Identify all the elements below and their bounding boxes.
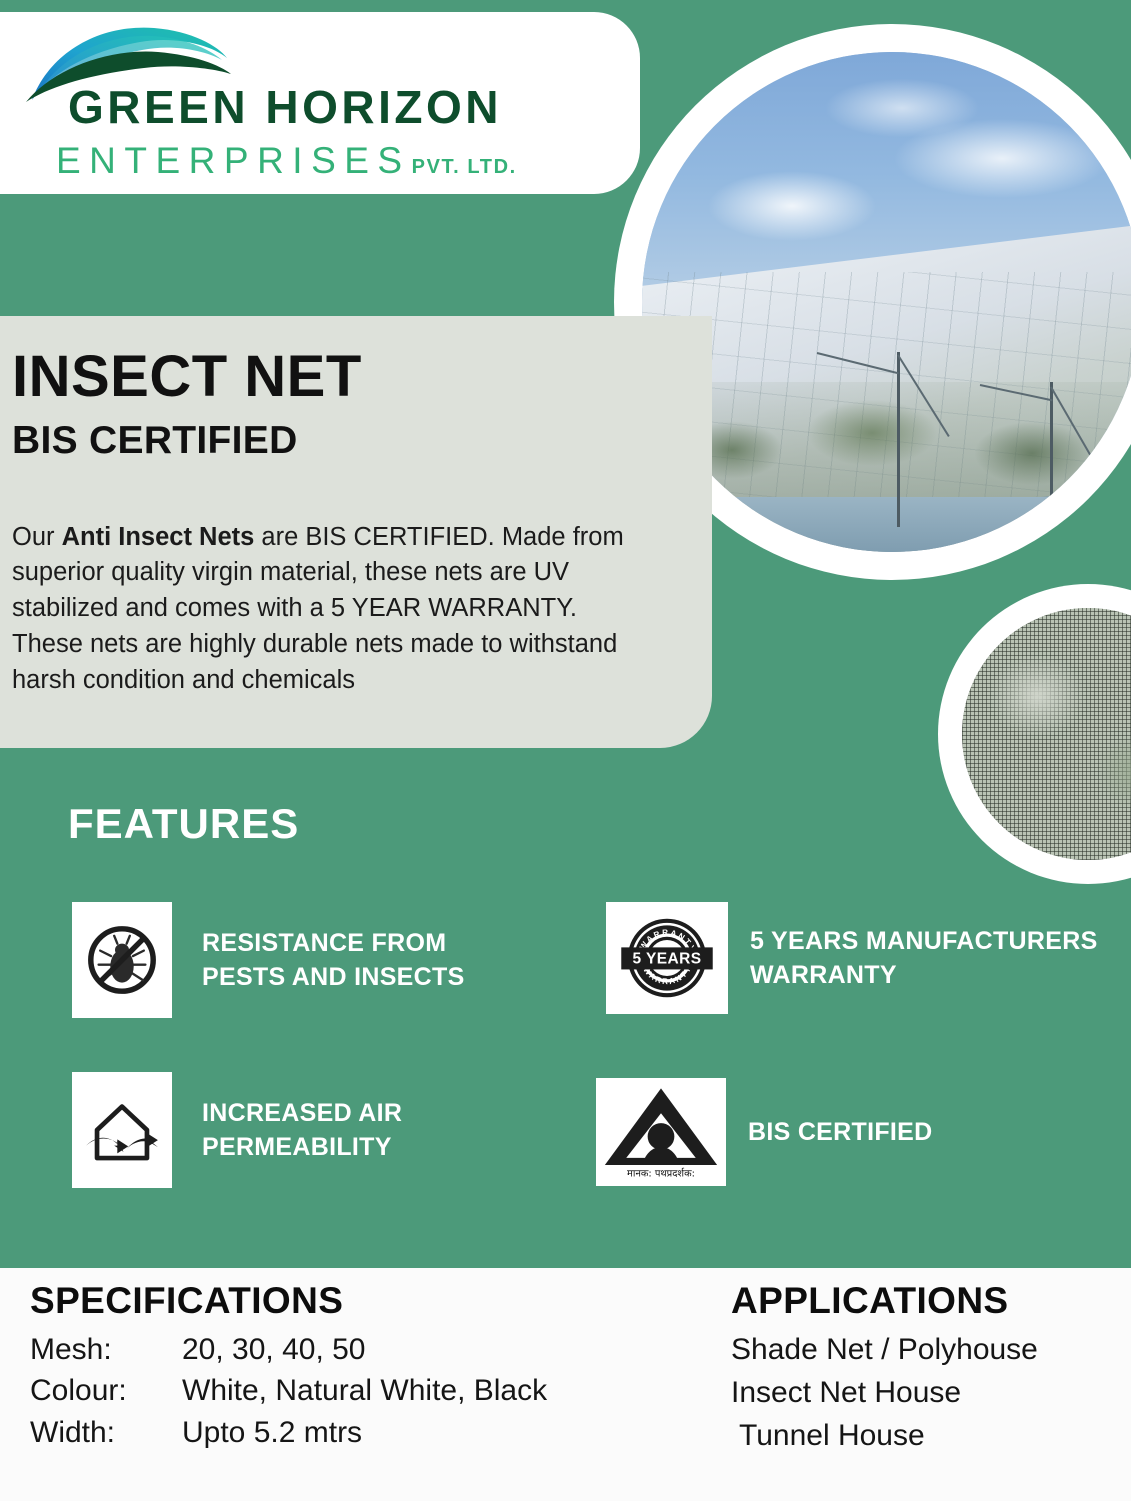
spec-value: Upto 5.2 mtrs [182,1412,362,1453]
spec-row: Colour: White, Natural White, Black [30,1370,547,1411]
logo-card: GREEN HORIZON ENTERPRISES PVT. LTD. [0,12,640,194]
feature-label-line2: PESTS AND INSECTS [202,960,465,994]
logo-enterprises-text: ENTERPRISES [56,142,411,179]
svg-text:मानक: पथप्रदर्शक:: मानक: पथप्रदर्शक: [627,1168,695,1180]
desc-bold: Anti Insect Nets [62,523,255,551]
title-panel: INSECT NET BIS CERTIFIED Our Anti Insect… [0,316,712,748]
feature-item-warranty: WARRANTY WARRANTY 5 YEARS 5 YEARS MANUFA… [606,902,1098,1014]
spec-key: Mesh: [30,1329,182,1370]
feature-item-bis-certified: मानक: पथप्रदर्शक: BIS CERTIFIED [596,1078,932,1186]
spec-key: Width: [30,1412,182,1453]
feature-label: INCREASED AIR PERMEABILITY [202,1096,402,1164]
water-region [642,497,1131,552]
logo-company-name: GREEN HORIZON [68,84,502,130]
support-pole [897,352,900,527]
features-heading: FEATURES [68,800,299,848]
application-item: Insect Net House [731,1372,1038,1415]
support-pole [1050,382,1053,532]
applications-heading: APPLICATIONS [731,1282,1038,1319]
page-subtitle: BIS CERTIFIED [12,421,298,460]
spec-row: Width: Upto 5.2 mtrs [30,1412,547,1453]
no-insect-icon [72,902,172,1018]
feature-label-line1: 5 YEARS MANUFACTURERS [750,924,1098,958]
feature-label-line2: WARRANTY [750,958,1098,992]
application-item: Shade Net / Polyhouse [731,1329,1038,1372]
bis-certification-icon: मानक: पथप्रदर्शक: [596,1078,726,1186]
feature-label-line1: BIS CERTIFIED [748,1115,932,1149]
product-flyer: GREEN HORIZON ENTERPRISES PVT. LTD. INSE… [0,0,1131,1501]
logo-subtitle: ENTERPRISES PVT. LTD. [56,142,517,179]
desc-pre: Our [12,523,62,551]
feature-item-air-permeability: INCREASED AIR PERMEABILITY [72,1072,402,1188]
warranty-seal-icon: WARRANTY WARRANTY 5 YEARS [606,902,728,1014]
product-description: Our Anti Insect Nets are BIS CERTIFIED. … [12,520,648,700]
air-permeability-house-icon [72,1072,172,1188]
spec-value: White, Natural White, Black [182,1370,547,1411]
spec-row: Mesh: 20, 30, 40, 50 [30,1329,547,1370]
feature-label: 5 YEARS MANUFACTURERS WARRANTY [750,924,1098,992]
mesh-texture [962,608,1131,860]
net-mesh-closeup-photo [962,608,1131,860]
specifications-column: SPECIFICATIONS Mesh: 20, 30, 40, 50 Colo… [30,1282,547,1453]
specifications-heading: SPECIFICATIONS [30,1282,547,1319]
spec-key: Colour: [30,1370,182,1411]
bottom-info-strip: SPECIFICATIONS Mesh: 20, 30, 40, 50 Colo… [0,1268,1131,1501]
svg-text:5 YEARS: 5 YEARS [633,951,702,968]
feature-label: RESISTANCE FROM PESTS AND INSECTS [202,926,465,994]
feature-label-line1: INCREASED AIR [202,1096,402,1130]
page-title: INSECT NET [12,348,362,406]
mesh-detail-ring [938,584,1131,884]
applications-column: APPLICATIONS Shade Net / Polyhouse Insec… [731,1282,1038,1458]
feature-label-line2: PERMEABILITY [202,1130,402,1164]
application-item: Tunnel House [731,1415,1038,1458]
logo-pvtltd-text: PVT. LTD. [412,157,517,177]
feature-label-line1: RESISTANCE FROM [202,926,465,960]
spec-value: 20, 30, 40, 50 [182,1329,366,1370]
insect-net-house-photo [642,52,1131,552]
feature-item-pest-resistance: RESISTANCE FROM PESTS AND INSECTS [72,902,465,1018]
feature-label: BIS CERTIFIED [748,1115,932,1149]
